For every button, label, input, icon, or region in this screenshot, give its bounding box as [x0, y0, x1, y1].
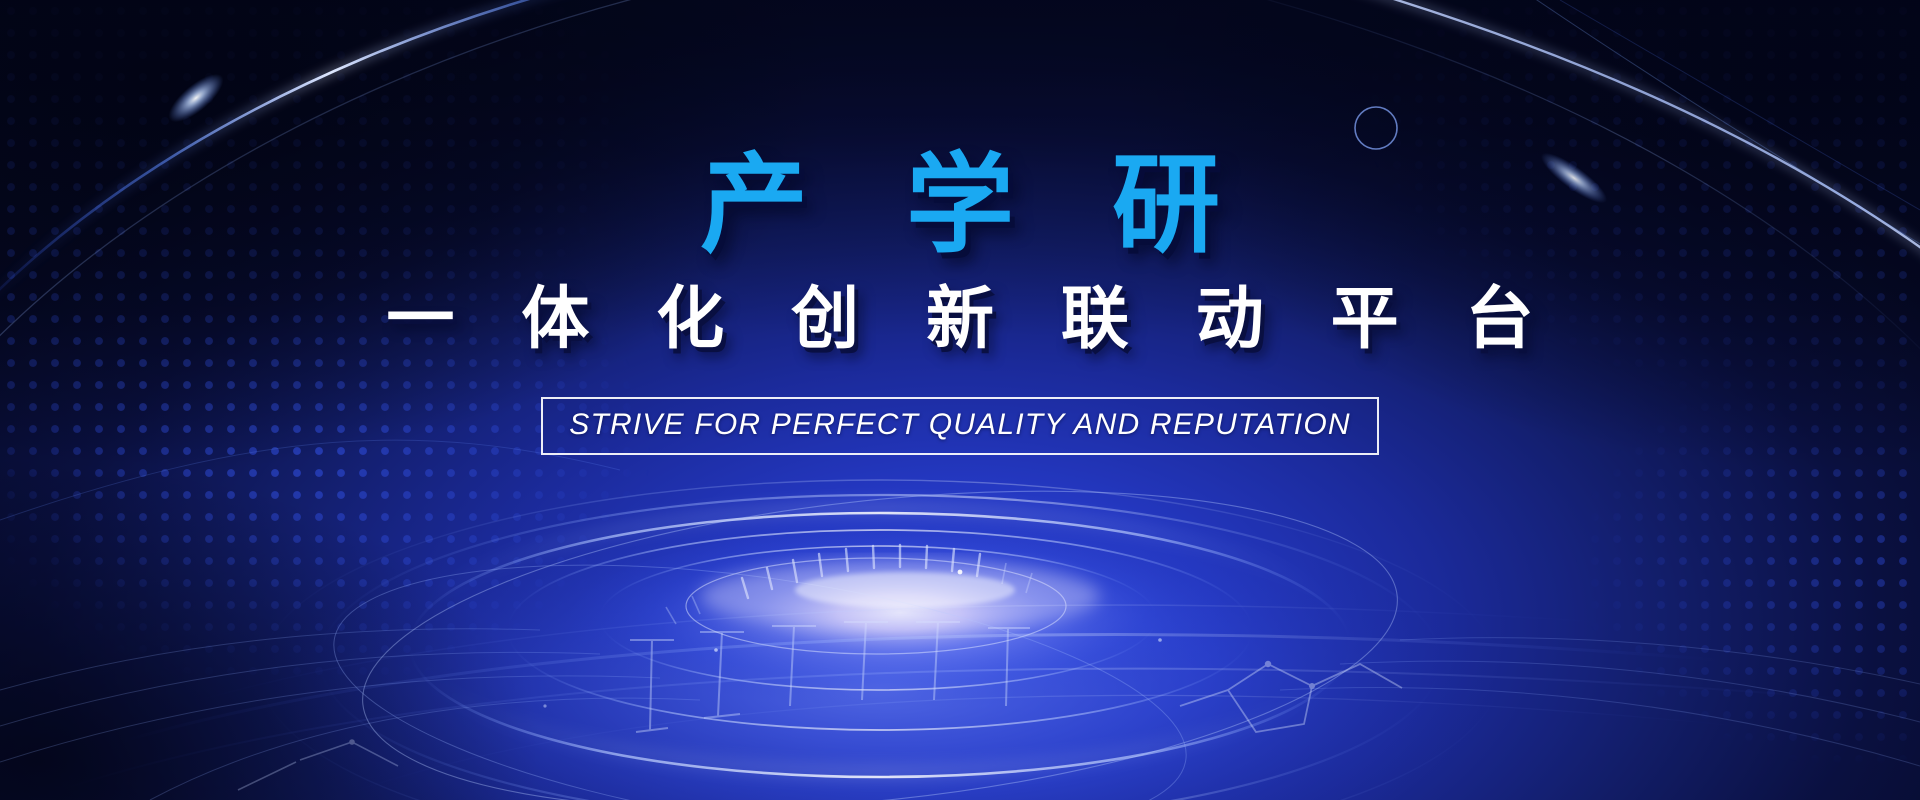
banner-title-main: 产 学 研 [666, 148, 1254, 262]
banner-subtitle-box: STRIVE FOR PERFECT QUALITY AND REPUTATIO… [541, 397, 1379, 455]
banner-title-sub: 一 体 化 创 新 联 动 平 台 [362, 282, 1557, 357]
banner-content: 产 学 研 一 体 化 创 新 联 动 平 台 STRIVE FOR PERFE… [0, 0, 1920, 800]
banner-subtitle-english: STRIVE FOR PERFECT QUALITY AND REPUTATIO… [569, 408, 1351, 442]
banner-root: 产 学 研 一 体 化 创 新 联 动 平 台 STRIVE FOR PERFE… [0, 0, 1920, 800]
